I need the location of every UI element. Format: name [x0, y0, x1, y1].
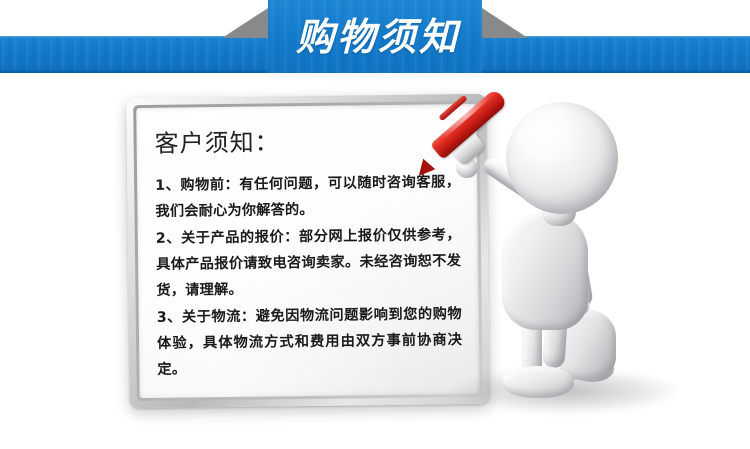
list-item: 2、关于产品的报价：部分网上报价仅供参考，具体产品报价请致电咨询卖家。未经咨询恕… [156, 222, 462, 304]
list-item: 3、关于物流：避免因物流问题影响到您的购物体验，具体物流方式和费用由双方事前协商… [157, 301, 463, 383]
mascot-front-foot [502, 366, 574, 398]
mascot-head [506, 102, 618, 214]
banner-header: 购物须知 [0, 0, 750, 90]
red-marker-pen-icon [408, 88, 518, 192]
banner-title: 购物须知 [258, 8, 498, 66]
mascot-torso [502, 212, 588, 330]
notice-list: 1、购物前：有任何问题，可以随时咨询客服，我们会耐心为你解答的。 2、关于产品的… [155, 169, 470, 383]
marker-tip [413, 159, 436, 182]
shopping-notice-banner-page: 购物须知 客户须知： 1、购物前：有任何问题，可以随时咨询客服，我们会耐心为你解… [0, 0, 750, 449]
